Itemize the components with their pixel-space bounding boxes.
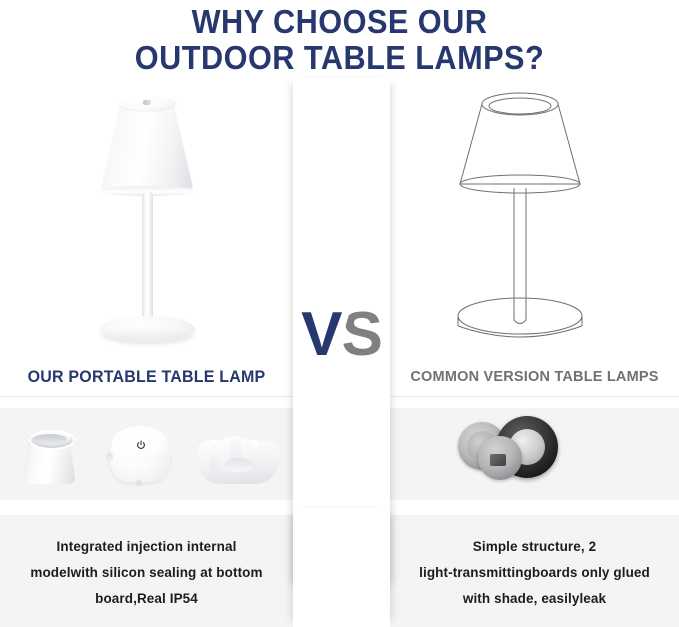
hero-right-panel bbox=[390, 82, 679, 392]
injection-molded-base-icon bbox=[196, 422, 280, 488]
right-caption-line-2: light-transmittingboards only glued bbox=[419, 560, 650, 586]
portable-table-lamp-photo-icon bbox=[62, 88, 232, 348]
touch-sensor-icon bbox=[143, 100, 151, 105]
comparison-infographic: WHY CHOOSE OUR OUTDOOR TABLE LAMPS? bbox=[0, 0, 679, 627]
common-table-lamp-outline-icon bbox=[430, 88, 610, 350]
left-caption: Integrated injection internal modelwith … bbox=[0, 515, 293, 627]
hero-left-panel bbox=[0, 82, 293, 392]
lamp-stem bbox=[142, 192, 153, 327]
shell-inner-wall bbox=[33, 434, 67, 444]
mold-recess bbox=[224, 458, 254, 472]
page-title-line-2: OUTDOOR TABLE LAMPS? bbox=[24, 40, 655, 76]
cap-bottom-nub bbox=[136, 480, 142, 486]
left-caption-line-2: modelwith silicon sealing at bottom bbox=[30, 560, 262, 586]
left-caption-line-1: Integrated injection internal bbox=[57, 534, 237, 560]
lamp-base-rim bbox=[103, 328, 192, 344]
center-divider-column-bottom bbox=[293, 508, 390, 627]
left-caption-line-3: board,Real IP54 bbox=[95, 586, 198, 612]
right-caption-line-3: with shade, easilyleak bbox=[463, 586, 606, 612]
left-product-label: OUR PORTABLE TABLE LAMP bbox=[4, 360, 288, 394]
right-product-label: COMMON VERSION TABLE LAMPS bbox=[390, 360, 679, 394]
cap-side-tab bbox=[106, 452, 113, 461]
left-component-group bbox=[0, 408, 293, 500]
mold-rib-1 bbox=[210, 440, 219, 470]
power-button-cap-icon bbox=[104, 422, 176, 488]
power-icon bbox=[136, 437, 146, 447]
right-caption: Simple structure, 2 light-transmittingbo… bbox=[390, 515, 679, 627]
lamp-shade bbox=[100, 102, 194, 192]
right-component-group bbox=[390, 408, 679, 500]
right-caption-line-1: Simple structure, 2 bbox=[473, 534, 596, 560]
lamp-shade-shell-icon bbox=[18, 426, 80, 484]
page-title-line-1: WHY CHOOSE OUR bbox=[24, 4, 655, 40]
versus-badge: V S bbox=[293, 300, 390, 370]
circuit-chip-icon bbox=[490, 454, 506, 466]
page-title: WHY CHOOSE OUR OUTDOOR TABLE LAMPS? bbox=[24, 0, 655, 76]
